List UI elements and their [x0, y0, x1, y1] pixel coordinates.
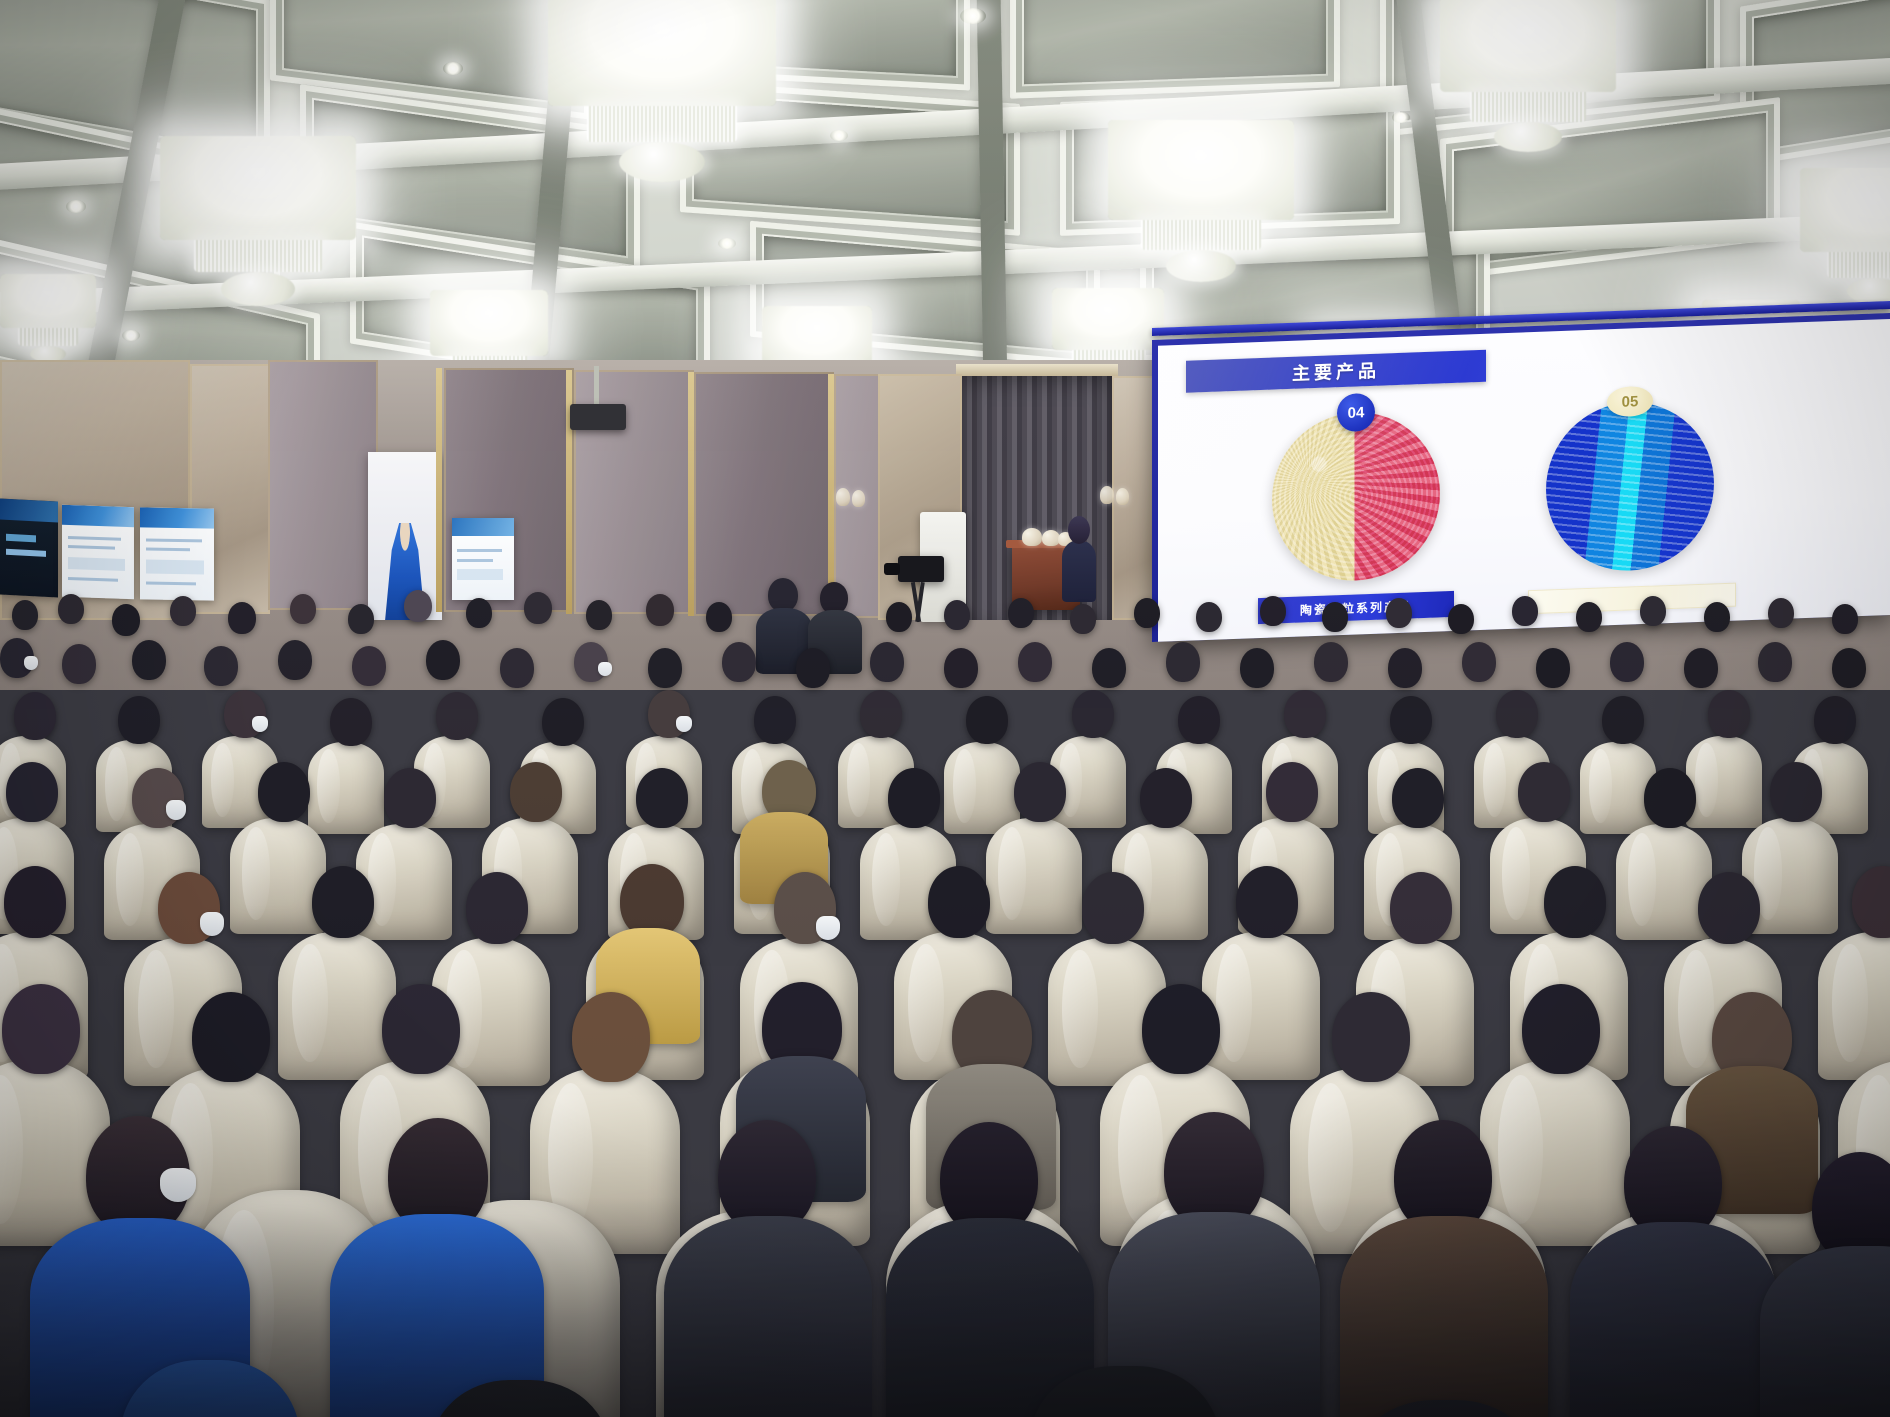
attendee-head [1332, 992, 1410, 1082]
attendee-head [1644, 768, 1696, 828]
attendee-head [4, 866, 66, 938]
attendee-head [1196, 602, 1222, 632]
attendee-body [1340, 1216, 1548, 1417]
attendee-head [466, 872, 528, 944]
attendee-head [1768, 598, 1794, 628]
attendee-head [1178, 696, 1220, 744]
attendee-head [112, 604, 140, 636]
speaker-head [1068, 516, 1090, 544]
chair [944, 742, 1020, 834]
attendee-head [1014, 762, 1066, 822]
product-item-05: 05 [1546, 399, 1714, 573]
attendee-head [1770, 762, 1822, 822]
attendee-head [1240, 648, 1274, 688]
attendee-head [648, 648, 682, 688]
downlight [830, 130, 848, 141]
chair [308, 742, 384, 834]
attendee-head [2, 984, 80, 1074]
attendee-head [500, 648, 534, 688]
attendee-head [1260, 596, 1286, 626]
downlight [66, 200, 86, 213]
attendee-head [1522, 984, 1600, 1074]
attendee-head [258, 762, 310, 822]
downlight [122, 330, 140, 341]
attendee-head [1134, 598, 1160, 628]
attendee-head [1832, 648, 1866, 688]
attendee-head [706, 602, 732, 632]
attendee-head [860, 690, 902, 738]
attendee-head [1070, 604, 1096, 634]
chair [1686, 736, 1762, 828]
downlight [718, 238, 736, 249]
chandelier [548, 0, 776, 182]
attendee-head [888, 768, 940, 828]
chandelier [0, 274, 96, 362]
attendee-head [58, 594, 84, 624]
attendee-head [192, 992, 270, 1082]
attendee-head [1640, 596, 1666, 626]
attendee-head [1390, 872, 1452, 944]
attendee-head [1322, 602, 1348, 632]
attendee-head [62, 644, 96, 684]
attendee-head [1462, 642, 1496, 682]
chair [230, 818, 326, 934]
wall-sconce [852, 490, 865, 507]
attendee-head [1008, 598, 1034, 628]
attendee-head [1684, 648, 1718, 688]
attendee-head [1576, 602, 1602, 632]
face-mask [816, 916, 840, 940]
attendee-head [426, 640, 460, 680]
audience [0, 560, 1890, 1417]
attendee-head [636, 768, 688, 828]
wall-sconce [1100, 486, 1114, 504]
chandelier [1800, 168, 1890, 304]
attendee-head [1390, 696, 1432, 744]
attendee-head [768, 578, 798, 612]
attendee-head [312, 866, 374, 938]
attendee-head [944, 600, 970, 630]
attendee-head [754, 696, 796, 744]
attendee-head [14, 692, 56, 740]
attendee-head [290, 594, 316, 624]
attendee-body [1570, 1222, 1778, 1417]
attendee-head [886, 602, 912, 632]
attendee-head [1518, 762, 1570, 822]
projector-mount [594, 366, 599, 408]
face-mask [24, 656, 38, 670]
attendee-head [1018, 642, 1052, 682]
attendee-head [1392, 768, 1444, 828]
curtain-pelmet [956, 364, 1118, 376]
chair [356, 824, 452, 940]
attendee-head [384, 768, 436, 828]
attendee-head [1704, 602, 1730, 632]
attendee-head [228, 602, 256, 634]
face-mask [160, 1168, 196, 1202]
attendee-head [1072, 690, 1114, 738]
attendee-head [944, 648, 978, 688]
attendee-head [1852, 866, 1890, 938]
attendee-head [330, 698, 372, 746]
attendee-head [1386, 598, 1412, 628]
attendee-head [1092, 648, 1126, 688]
product-item-04: 04 [1272, 409, 1440, 583]
attendee-head [572, 992, 650, 1082]
attendee-head [870, 642, 904, 682]
attendee-head [1388, 648, 1422, 688]
downlight [960, 8, 986, 24]
attendee-head [348, 604, 374, 634]
attendee-head [646, 594, 674, 626]
face-mask [676, 716, 692, 732]
attendee-head [1314, 642, 1348, 682]
attendee-head [1758, 642, 1792, 682]
attendee-head [1698, 872, 1760, 944]
attendee-head [1496, 690, 1538, 738]
slide-title: 主要产品 [1292, 357, 1380, 386]
attendee-head [510, 762, 562, 822]
ceiling-coffer [1010, 0, 1340, 99]
attendee-head [1266, 762, 1318, 822]
attendee-head [352, 646, 386, 686]
attendee-head [6, 762, 58, 822]
chandelier [1108, 120, 1294, 282]
chair [1202, 932, 1320, 1080]
downlight [443, 62, 463, 75]
attendee-head [1082, 872, 1144, 944]
attendee-head [1814, 696, 1856, 744]
attendee-head [118, 696, 160, 744]
attendee-head [1448, 604, 1474, 634]
attendee-head [1602, 696, 1644, 744]
attendee-head [466, 598, 492, 628]
attendee-head [524, 592, 552, 624]
attendee-head [382, 984, 460, 1074]
attendee-head [1140, 768, 1192, 828]
attendee-body [1760, 1246, 1890, 1417]
attendee-head [1832, 604, 1858, 634]
podium-flowers [1022, 528, 1042, 546]
attendee-head [278, 640, 312, 680]
attendee-body [664, 1216, 872, 1417]
attendee-head [1142, 984, 1220, 1074]
face-mask [252, 716, 268, 732]
ceiling-projector-icon [570, 404, 626, 430]
product-disc-granules [1272, 409, 1440, 583]
attendee-head [404, 590, 432, 622]
attendee-head [1166, 642, 1200, 682]
face-mask [200, 912, 224, 936]
attendee-head [204, 646, 238, 686]
attendee-head [1544, 866, 1606, 938]
attendee-head [722, 642, 756, 682]
chair [1818, 932, 1890, 1080]
attendee-head [966, 696, 1008, 744]
conference-hall-photo: 主要产品 04 陶瓷颗粒系列产品 05 [0, 0, 1890, 1417]
chandelier [160, 136, 356, 306]
wall-sconce [1116, 488, 1129, 505]
attendee-head [132, 640, 166, 680]
attendee-head [1610, 642, 1644, 682]
attendee-head [12, 600, 38, 630]
wall-sconce [836, 488, 850, 506]
chair [278, 932, 396, 1080]
chair [1616, 824, 1712, 940]
attendee-head [620, 864, 684, 938]
chair [986, 818, 1082, 934]
attendee-head [1236, 866, 1298, 938]
face-mask [598, 662, 612, 676]
attendee-head [796, 648, 830, 688]
product-disc-fiber [1546, 399, 1714, 573]
attendee-head [436, 692, 478, 740]
attendee-head [170, 596, 196, 626]
attendee-head [542, 698, 584, 746]
attendee-head [1284, 690, 1326, 738]
face-mask [166, 800, 186, 820]
slide-title-bar: 主要产品 [1186, 350, 1486, 393]
attendee-head [1536, 648, 1570, 688]
attendee-head [928, 866, 990, 938]
chandelier [1440, 0, 1616, 152]
attendee-head [1512, 596, 1538, 626]
downlight [1392, 112, 1410, 123]
attendee-head [1708, 690, 1750, 738]
attendee-head [586, 600, 612, 630]
